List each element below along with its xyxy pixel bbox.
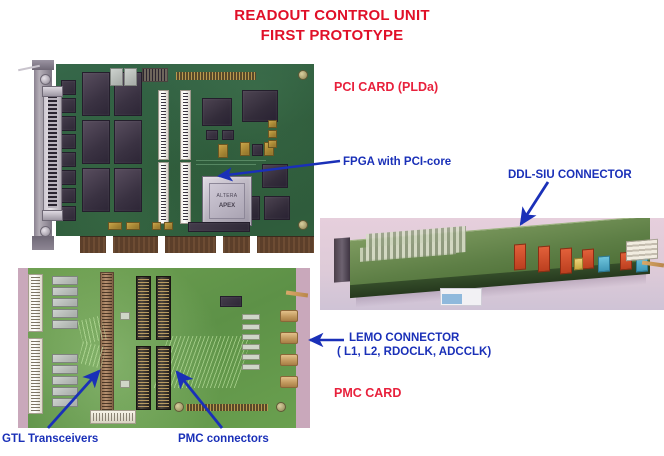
gtl-arrow — [48, 371, 99, 428]
fpga-arrow — [219, 161, 340, 176]
ddl-siu-arrow — [521, 182, 548, 224]
callout-arrows — [0, 0, 664, 456]
pmc-connectors-arrow — [177, 372, 222, 428]
slide-canvas: READOUT CONTROL UNIT FIRST PROTOTYPE — [0, 0, 664, 456]
